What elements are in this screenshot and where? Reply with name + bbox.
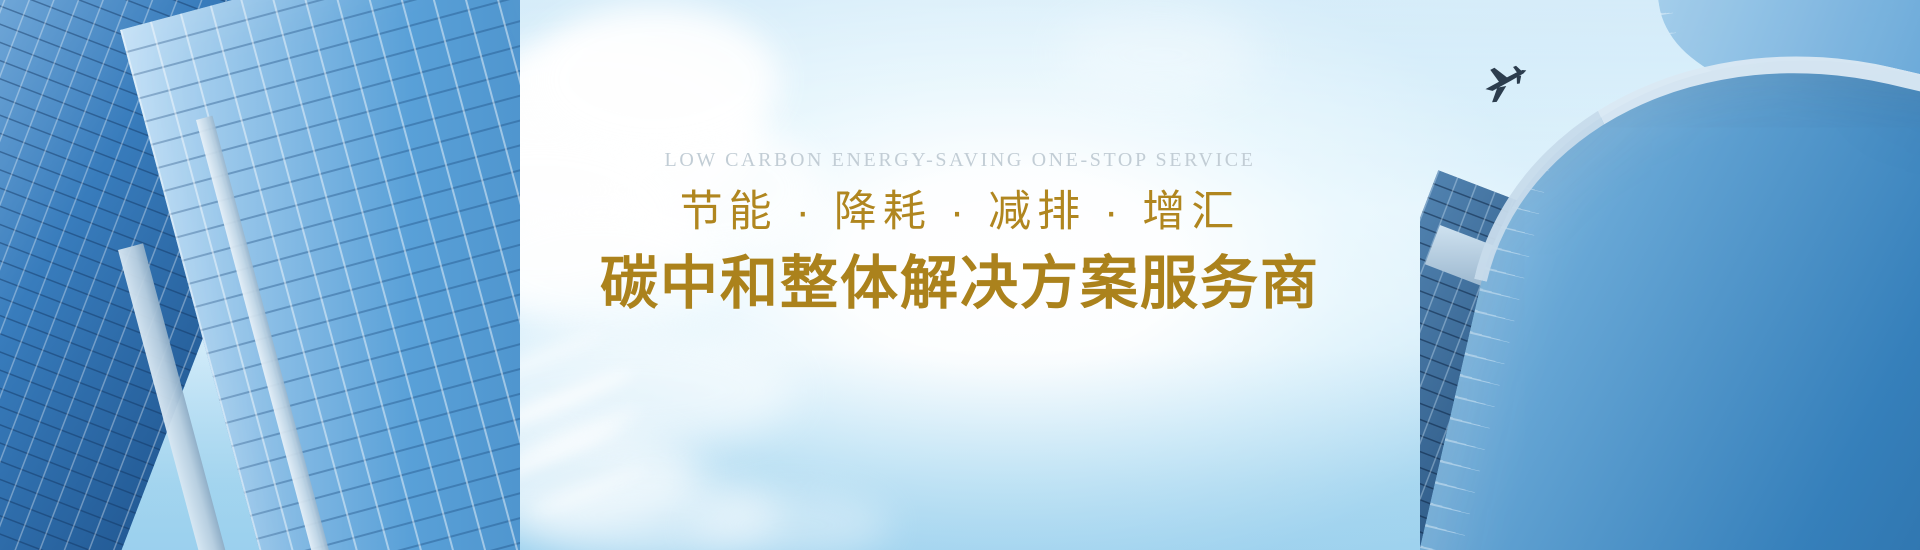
banner-headline: 碳中和整体解决方案服务商 (0, 253, 1920, 316)
banner-tagline: LOW CARBON ENERGY-SAVING ONE-STOP SERVIC… (0, 150, 1920, 170)
banner-subheadline: 节能 · 降耗 · 减排 · 增汇 (0, 190, 1920, 235)
banner-copy: LOW CARBON ENERGY-SAVING ONE-STOP SERVIC… (0, 150, 1920, 316)
hero-banner: LOW CARBON ENERGY-SAVING ONE-STOP SERVIC… (0, 0, 1920, 550)
cloud-shape (1060, 10, 1260, 100)
